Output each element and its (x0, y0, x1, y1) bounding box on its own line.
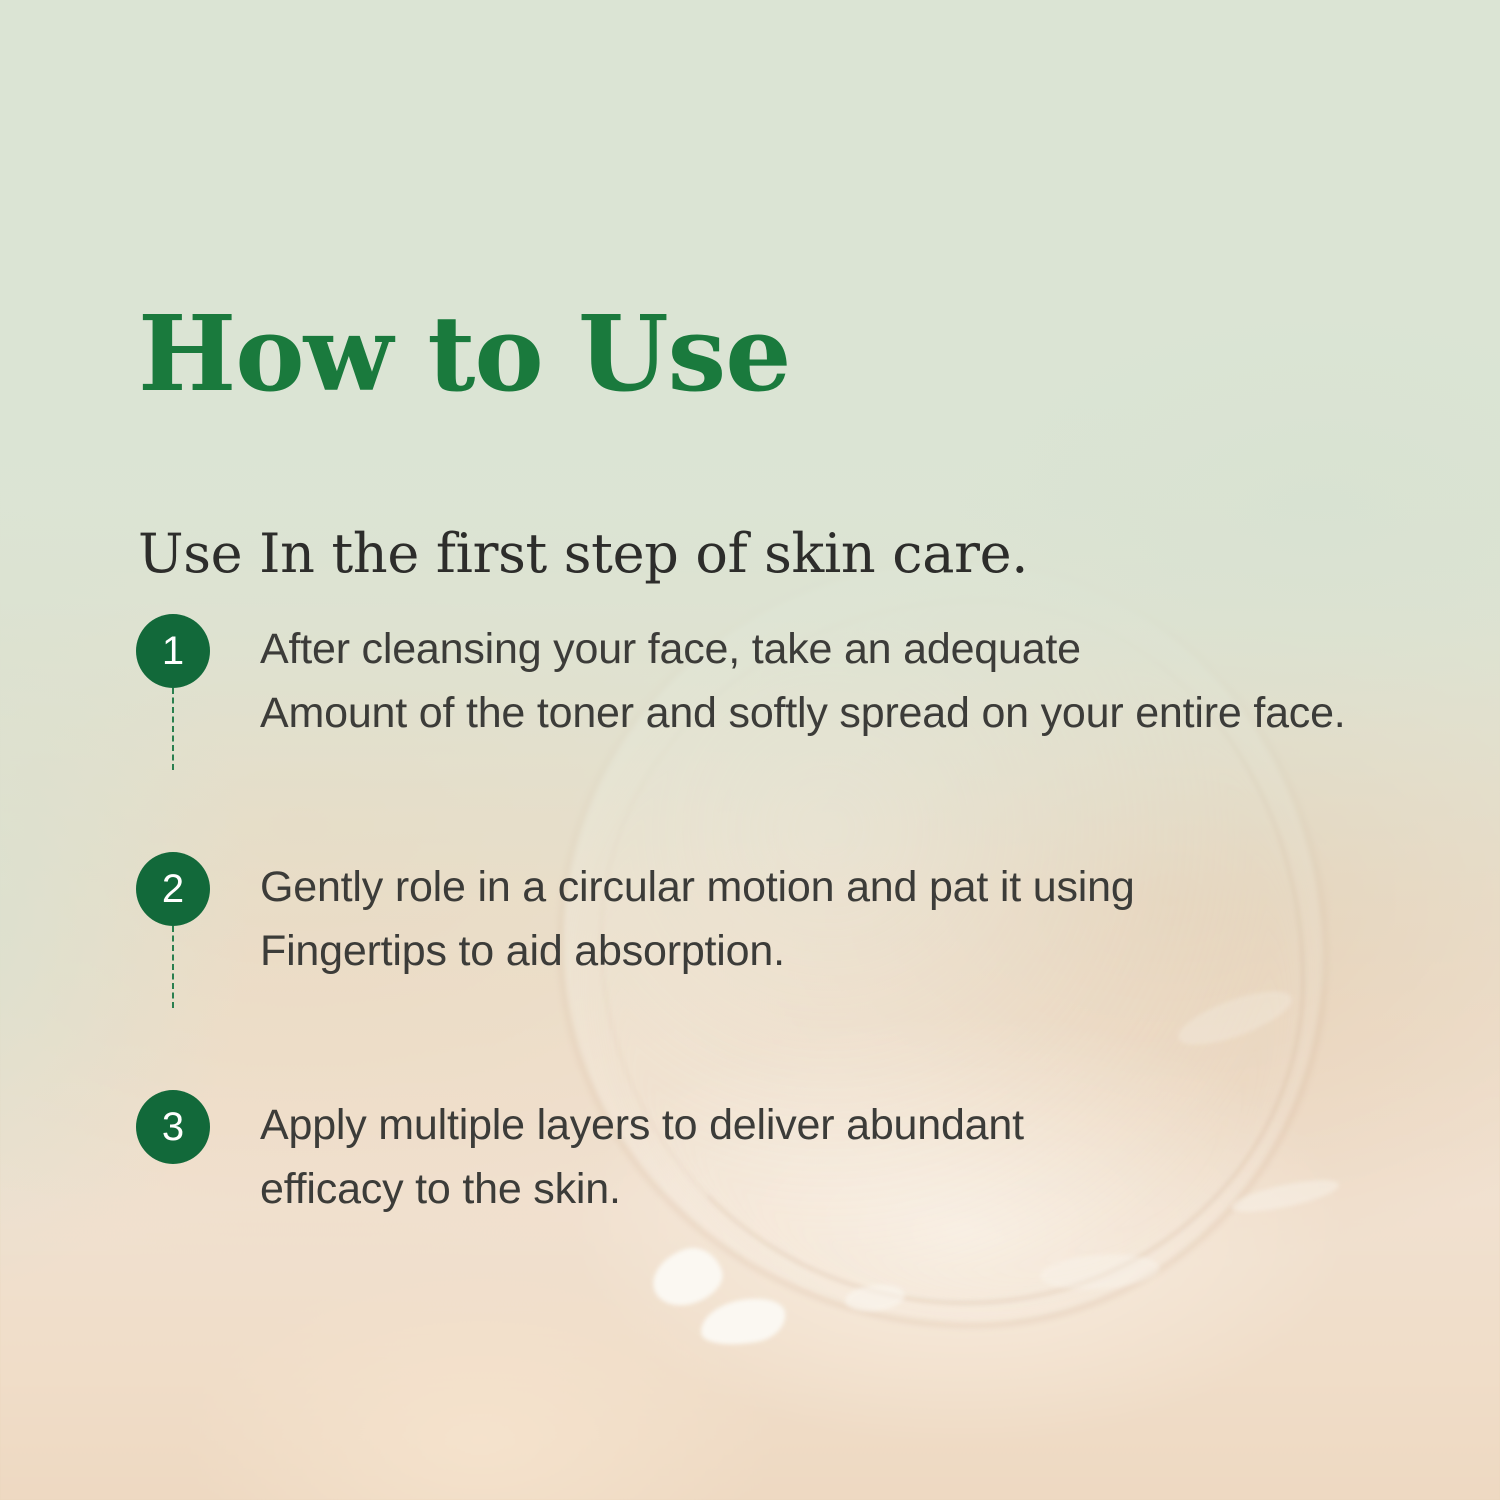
step-text-line: efficacy to the skin. (260, 1158, 1024, 1222)
how-to-use-poster: How to Use Use In the first step of skin… (0, 0, 1500, 1500)
step-marker-column: 2 (136, 852, 210, 926)
list-item: 3 Apply multiple layers to deliver abund… (136, 1090, 1456, 1221)
list-item: 1 After cleansing your face, take an ade… (136, 614, 1456, 770)
steps-list: 1 After cleansing your face, take an ade… (136, 614, 1456, 1221)
step-text: Apply multiple layers to deliver abundan… (260, 1090, 1024, 1221)
step-number-badge: 3 (136, 1090, 210, 1164)
step-connector-line (172, 688, 174, 770)
step-text-line: Amount of the toner and softly spread on… (260, 682, 1346, 746)
step-text-line: Gently role in a circular motion and pat… (260, 856, 1135, 920)
step-marker-column: 1 (136, 614, 210, 688)
step-text-line: After cleansing your face, take an adequ… (260, 618, 1346, 682)
step-number-badge: 1 (136, 614, 210, 688)
step-marker-column: 3 (136, 1090, 210, 1164)
step-text-line: Fingertips to aid absorption. (260, 920, 1135, 984)
step-text: Gently role in a circular motion and pat… (260, 852, 1135, 983)
content-layer: How to Use Use In the first step of skin… (0, 0, 1500, 1500)
page-subtitle: Use In the first step of skin care. (138, 524, 1028, 583)
step-connector-line (172, 926, 174, 1008)
list-item: 2 Gently role in a circular motion and p… (136, 852, 1456, 1008)
step-number-badge: 2 (136, 852, 210, 926)
step-text: After cleansing your face, take an adequ… (260, 614, 1346, 745)
step-text-line: Apply multiple layers to deliver abundan… (260, 1094, 1024, 1158)
page-title: How to Use (138, 298, 790, 410)
